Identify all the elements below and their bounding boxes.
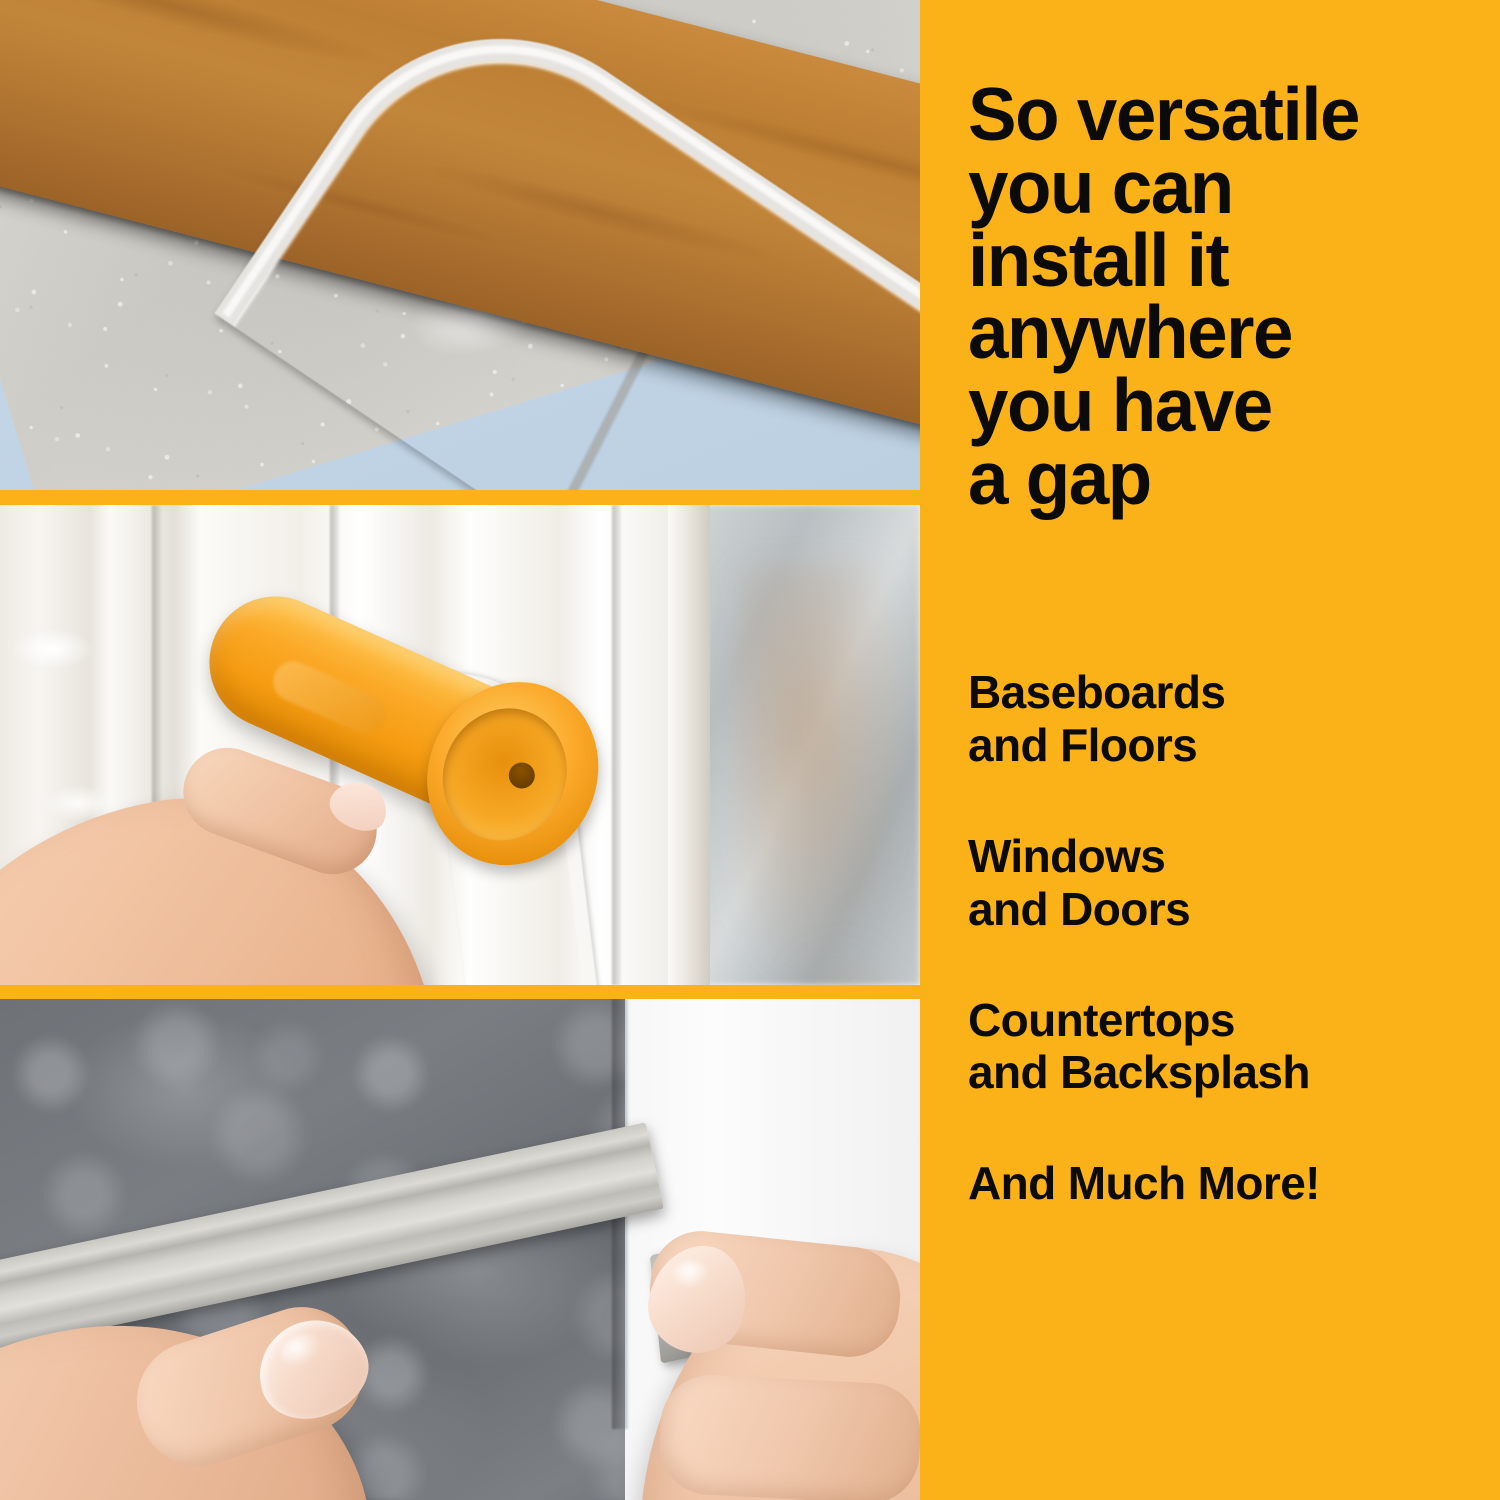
glass-reflection xyxy=(735,565,915,985)
panel-divider xyxy=(0,985,920,999)
photo-countertop-backsplash xyxy=(0,999,920,1500)
benefit-list: Baseboards and Floors Windows and Doors … xyxy=(968,666,1488,1210)
headline: So versatile you can install it anywhere… xyxy=(968,78,1472,515)
photo-window-trim-tool xyxy=(0,505,920,985)
photo-column xyxy=(0,0,920,1500)
window-sash xyxy=(668,505,710,985)
product-feature-graphic: So versatile you can install it anywhere… xyxy=(0,0,1500,1500)
finger xyxy=(657,1372,920,1500)
panel-divider xyxy=(0,490,920,505)
benefit-item-windows-and-doors: Windows and Doors xyxy=(968,830,1488,936)
trim-groove xyxy=(612,505,621,985)
photo-baseboard-tile xyxy=(0,0,920,490)
benefit-item-baseboards-and-floors: Baseboards and Floors xyxy=(968,666,1488,772)
benefit-item-and-much-more: And Much More! xyxy=(968,1157,1488,1210)
text-panel: So versatile you can install it anywhere… xyxy=(920,0,1500,1500)
glass-reflection xyxy=(745,935,920,985)
nail-highlight xyxy=(672,1261,710,1289)
benefit-item-countertops-and-backsplash: Countertops and Backsplash xyxy=(968,994,1488,1100)
